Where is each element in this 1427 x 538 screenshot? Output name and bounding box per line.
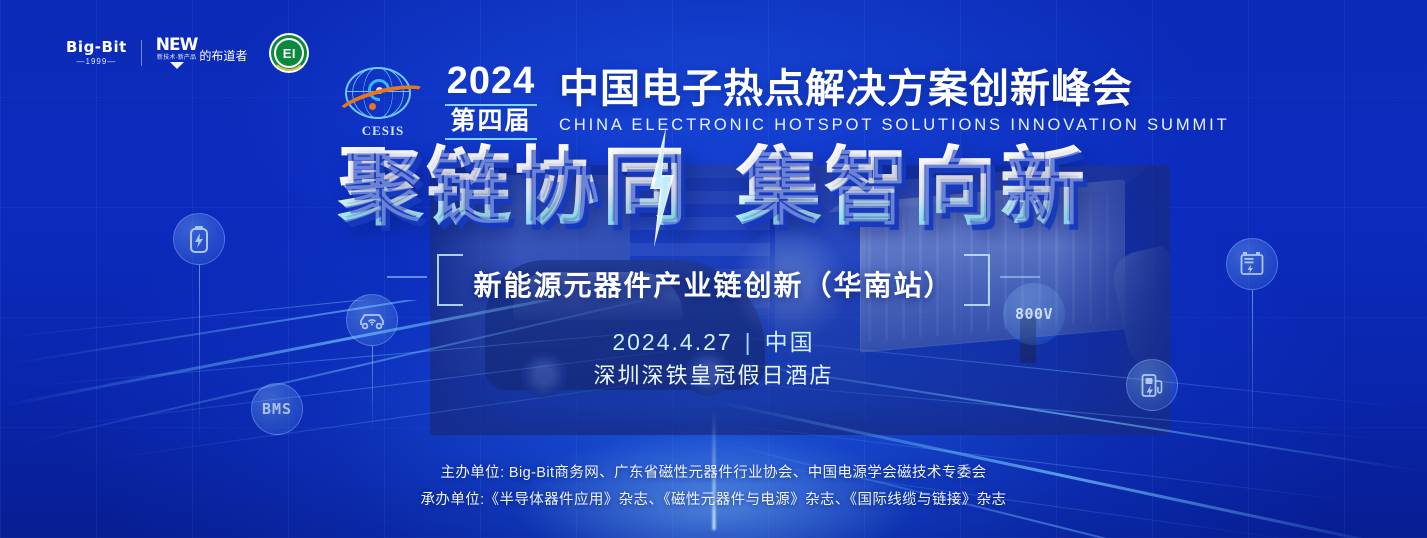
- triangle-icon: [170, 62, 184, 69]
- partner-logos: Big-Bit —1999— NEW 新技术·新产品 的布道者 EI: [66, 33, 309, 73]
- new-logo-tail: 的布道者: [199, 47, 247, 64]
- pin-stem: [372, 346, 373, 432]
- bracket-left-icon: [437, 254, 463, 306]
- orbit-dot: [369, 103, 376, 110]
- event-title-block: CESIS 2024 第四届 中国电子热点解决方案创新峰会 CHINA ELEC…: [335, 62, 1230, 140]
- page-title: 中国电子热点解决方案创新峰会: [559, 67, 1230, 112]
- cesis-logo-label: CESIS: [335, 123, 431, 139]
- car-wifi-glyph: [358, 309, 386, 331]
- slogan-part-2: 集智向新: [737, 138, 1089, 236]
- battery-bolt-icon: [173, 213, 225, 265]
- pin-car-battery: [1226, 238, 1278, 450]
- footer-organizer-line: 承办单位:《半导体器件应用》杂志、《磁性元器件与电源》杂志、《国际线缆与链接》杂…: [0, 487, 1427, 514]
- charging-station-glyph: [1140, 372, 1164, 398]
- ei-seal-logo[interactable]: EI: [269, 33, 309, 73]
- pin-connected-car: [346, 294, 398, 432]
- pin-bms: BMS: [251, 383, 303, 435]
- cesis-logo-icon: CESIS: [335, 65, 431, 137]
- subtitle-bar: 新能源元器件产业链创新（华南站）: [433, 258, 993, 310]
- subtitle-text: 新能源元器件产业链创新（华南站）: [473, 264, 953, 304]
- car-battery-glyph: [1239, 251, 1265, 277]
- subtitle-tick-left: [387, 276, 427, 278]
- footer-host-line: 主办单位: Big-Bit商务网、广东省磁性元器件行业协会、中国电源学会磁技术专…: [0, 460, 1427, 487]
- bigbit-logo-year: —1999—: [77, 58, 117, 66]
- charging-station-icon: [1126, 359, 1178, 411]
- year-rule: [445, 104, 537, 106]
- event-year: 2024: [447, 62, 536, 100]
- slogan-part-1: 聚链协同: [338, 138, 690, 236]
- bigbit-logo[interactable]: Big-Bit —1999—: [66, 40, 127, 66]
- pin-charging-station: [1126, 359, 1178, 411]
- bracket-right-icon: [964, 254, 990, 306]
- date-separator: |: [745, 329, 753, 355]
- bigbit-logo-name: Big-Bit: [66, 40, 127, 55]
- bms-badge: BMS: [251, 383, 303, 435]
- new-logo-word: NEW: [156, 37, 198, 54]
- logo-divider: [141, 40, 142, 66]
- slogan-text: 聚链协同集智向新: [338, 143, 1088, 231]
- event-date: 2024.4.27: [612, 329, 732, 355]
- event-edition: 第四届: [450, 109, 531, 134]
- subtitle-tick-right: [1000, 276, 1040, 278]
- pin-stem: [1252, 290, 1253, 450]
- lightning-bolt-icon: [646, 127, 676, 247]
- pin-stem: [199, 265, 200, 441]
- pin-battery: [173, 213, 225, 441]
- footer-block: 主办单位: Big-Bit商务网、广东省磁性元器件行业协会、中国电源学会磁技术专…: [0, 460, 1427, 514]
- bms-label: BMS: [262, 400, 292, 418]
- event-country: 中国: [765, 329, 815, 355]
- event-banner: 800V Big-Bit —1999— NEW 新技术·新产品: [0, 0, 1427, 538]
- battery-bolt-glyph: [187, 225, 211, 253]
- title-texts: 中国电子热点解决方案创新峰会 CHINA ELECTRONIC HOTSPOT …: [559, 67, 1230, 136]
- ei-seal-label: EI: [283, 46, 296, 61]
- new-logo-sub: 新技术·新产品: [157, 55, 196, 61]
- car-battery-icon: [1226, 238, 1278, 290]
- car-wifi-icon: [346, 294, 398, 346]
- new-logo-mark: NEW 新技术·新产品: [156, 37, 198, 69]
- new-logo[interactable]: NEW 新技术·新产品 的布道者: [156, 37, 248, 69]
- year-edition-block: 2024 第四届: [445, 62, 537, 140]
